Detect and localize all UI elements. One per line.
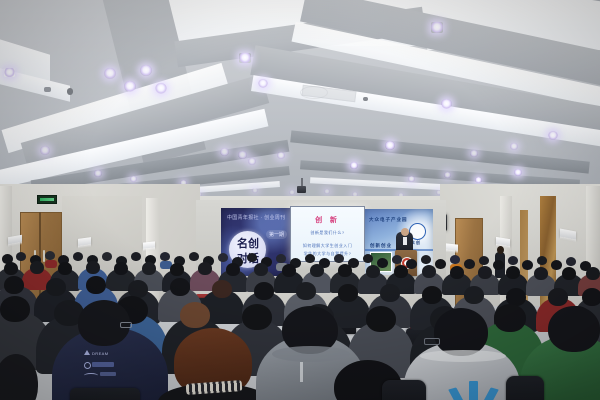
- downlight-icon: [277, 152, 285, 159]
- downlight-icon: [252, 188, 258, 193]
- downlight-icon: [475, 177, 482, 183]
- hood-fold: [272, 346, 350, 362]
- wall-sconce-icon: [78, 237, 91, 246]
- dream-logo-swoosh-icon: [84, 373, 98, 378]
- trefoil-logo-icon: [454, 378, 494, 400]
- slide-body-line-2: 如何理解大学生创业入门: [291, 243, 364, 249]
- banner-left-top-text: 中国青年报社 · 创业周刊: [227, 214, 285, 221]
- downlight-icon: [94, 170, 102, 177]
- downlight-icon: [324, 189, 330, 194]
- wall-sconce-icon: [560, 228, 576, 239]
- chair-foreground: [382, 380, 426, 400]
- attendee-green-sweater-head: [548, 306, 600, 352]
- downlight-icon: [248, 158, 256, 165]
- ceiling-sensor: [67, 88, 73, 95]
- dream-logo-bar: [92, 362, 114, 367]
- downlight-icon: [104, 68, 116, 79]
- speaker-shirt: [403, 237, 407, 245]
- photo-scene: 中国青年报社 · 创业周刊 第一期 名创 对话 创 新 创新是我们什么? 如何理…: [0, 0, 600, 400]
- downlight-icon: [130, 176, 137, 182]
- banner-left-line1: 名创: [233, 235, 263, 251]
- downlight-icon: [124, 81, 136, 92]
- slide-title: 创 新: [291, 215, 364, 225]
- dream-logo-circle-icon: [84, 362, 91, 369]
- downlight-icon: [441, 99, 452, 109]
- speaker-head: [401, 228, 409, 236]
- downlight-icon: [289, 190, 295, 195]
- downlight-icon: [510, 143, 518, 150]
- banner-left-badge: 第一期: [266, 230, 287, 239]
- ceiling-sensor: [44, 87, 51, 92]
- hoodie-drawstring: [300, 362, 303, 382]
- downlight-icon: [431, 22, 443, 33]
- downlight-icon: [548, 131, 558, 140]
- downlight-icon: [385, 141, 395, 150]
- downlight-icon: [238, 151, 247, 159]
- downlight-icon: [408, 176, 415, 182]
- wall-sconce-icon: [8, 235, 22, 244]
- downlight-icon: [470, 150, 478, 157]
- downlight-icon: [155, 83, 167, 94]
- jacket-collar: [420, 350, 506, 362]
- downlight-icon: [4, 68, 15, 77]
- eyeglasses-icon: [120, 322, 132, 328]
- downlight-icon: [514, 169, 522, 176]
- dream-logo-text: DREAM: [92, 351, 108, 356]
- wall-sconce-icon: [143, 241, 155, 248]
- downlight-icon: [140, 65, 152, 76]
- attendee-trefoil-jacket-head: [434, 308, 488, 356]
- audience: DREAM: [0, 250, 600, 400]
- chair-foreground: [506, 376, 544, 400]
- chair-foreground: [70, 388, 140, 400]
- dream-logo-bar: [100, 372, 116, 376]
- exit-sign-icon: [37, 195, 57, 204]
- downlight-icon: [239, 53, 251, 63]
- downlight-icon: [40, 146, 50, 155]
- downlight-icon: [444, 172, 451, 178]
- banner-right-line1: 大众电子产业园: [369, 217, 408, 223]
- slide-body-line-1: 创新是我们什么?: [291, 230, 364, 236]
- downlight-icon: [258, 79, 268, 88]
- downlight-icon: [350, 162, 358, 169]
- eyeglasses-icon: [424, 338, 440, 345]
- ceiling-projector-icon: [297, 186, 306, 193]
- ceiling-sensor: [363, 97, 368, 101]
- wall-sconce-icon: [496, 237, 510, 246]
- dream-logo-triangle-icon: [84, 350, 90, 355]
- downlight-icon: [220, 148, 229, 156]
